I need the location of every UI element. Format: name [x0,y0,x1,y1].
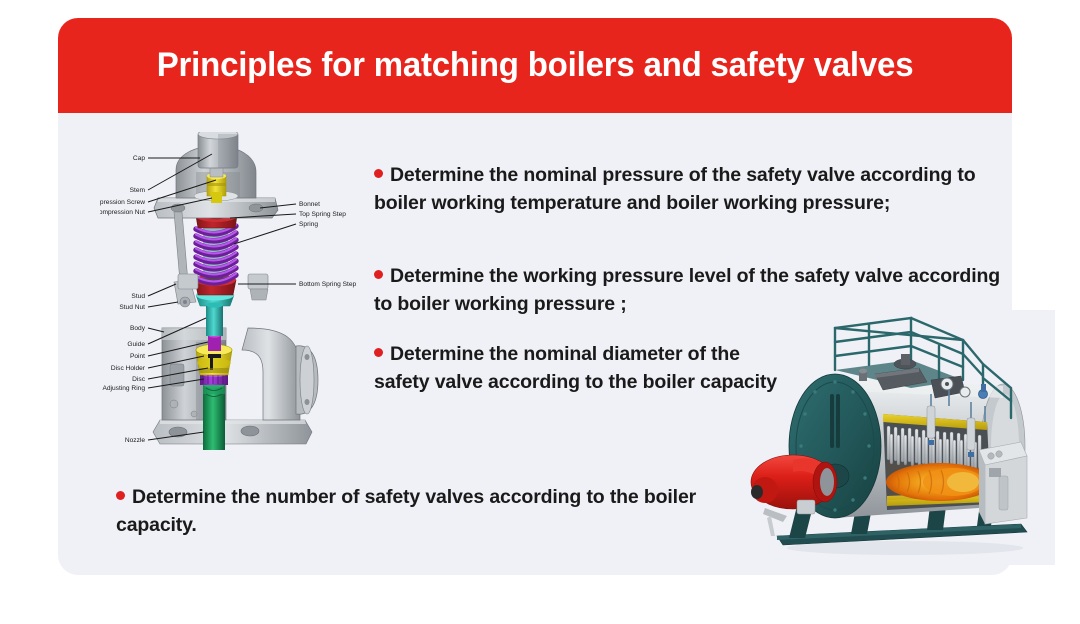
svg-text:Compression Screw: Compression Screw [100,199,145,206]
svg-text:Spring: Spring [299,221,318,228]
svg-text:Compression Nut: Compression Nut [100,209,145,216]
bullet-text-2: Determine the working pressure level of … [374,265,1000,315]
bullet-item-4: Determine the number of safety valves ac… [116,484,716,539]
bullet-dot-icon [374,169,383,178]
boiler-cutaway-interior [883,414,994,510]
svg-text:Adjusting Ring: Adjusting Ring [102,385,145,392]
page-title: Principles for matching boilers and safe… [157,47,914,84]
header-banner: Principles for matching boilers and safe… [58,18,1012,113]
safety-valve-cutaway-diagram: Cap Stem Compression Screw Compression N… [100,132,362,462]
svg-text:Bottom Spring Step: Bottom Spring Step [299,281,357,288]
slide-root: Principles for matching boilers and safe… [0,0,1080,624]
valve-cap [198,132,238,168]
svg-text:Cap: Cap [133,155,145,162]
svg-text:Guide: Guide [127,341,145,348]
bullet-text-3: Determine the nominal diameter of the sa… [374,343,777,393]
svg-text:Body: Body [130,325,146,332]
bullet-dot-icon [374,348,383,357]
valve-nozzle [203,380,225,450]
svg-text:Point: Point [130,353,145,360]
bullet-dot-icon [116,491,125,500]
bullet-item-2: Determine the working pressure level of … [374,263,1004,318]
svg-text:Top Spring Step: Top Spring Step [299,211,346,218]
svg-text:Stud Nut: Stud Nut [119,304,145,311]
svg-text:Nozzle: Nozzle [125,437,145,444]
svg-text:Disc Holder: Disc Holder [111,365,146,372]
bullet-text-4: Determine the number of safety valves ac… [116,486,696,536]
svg-text:Bonnet: Bonnet [299,201,320,208]
bullet-item-3: Determine the nominal diameter of the sa… [374,341,794,396]
bullet-dot-icon [374,270,383,279]
bullet-item-1: Determine the nominal pressure of the sa… [374,162,999,217]
svg-text:Stud: Stud [131,293,145,300]
boiler-control-cabinet [979,442,1027,524]
svg-text:Stem: Stem [130,187,146,194]
valve-base-flange [153,420,312,444]
svg-text:Disc: Disc [132,376,146,383]
bullet-text-1: Determine the nominal pressure of the sa… [374,164,975,214]
